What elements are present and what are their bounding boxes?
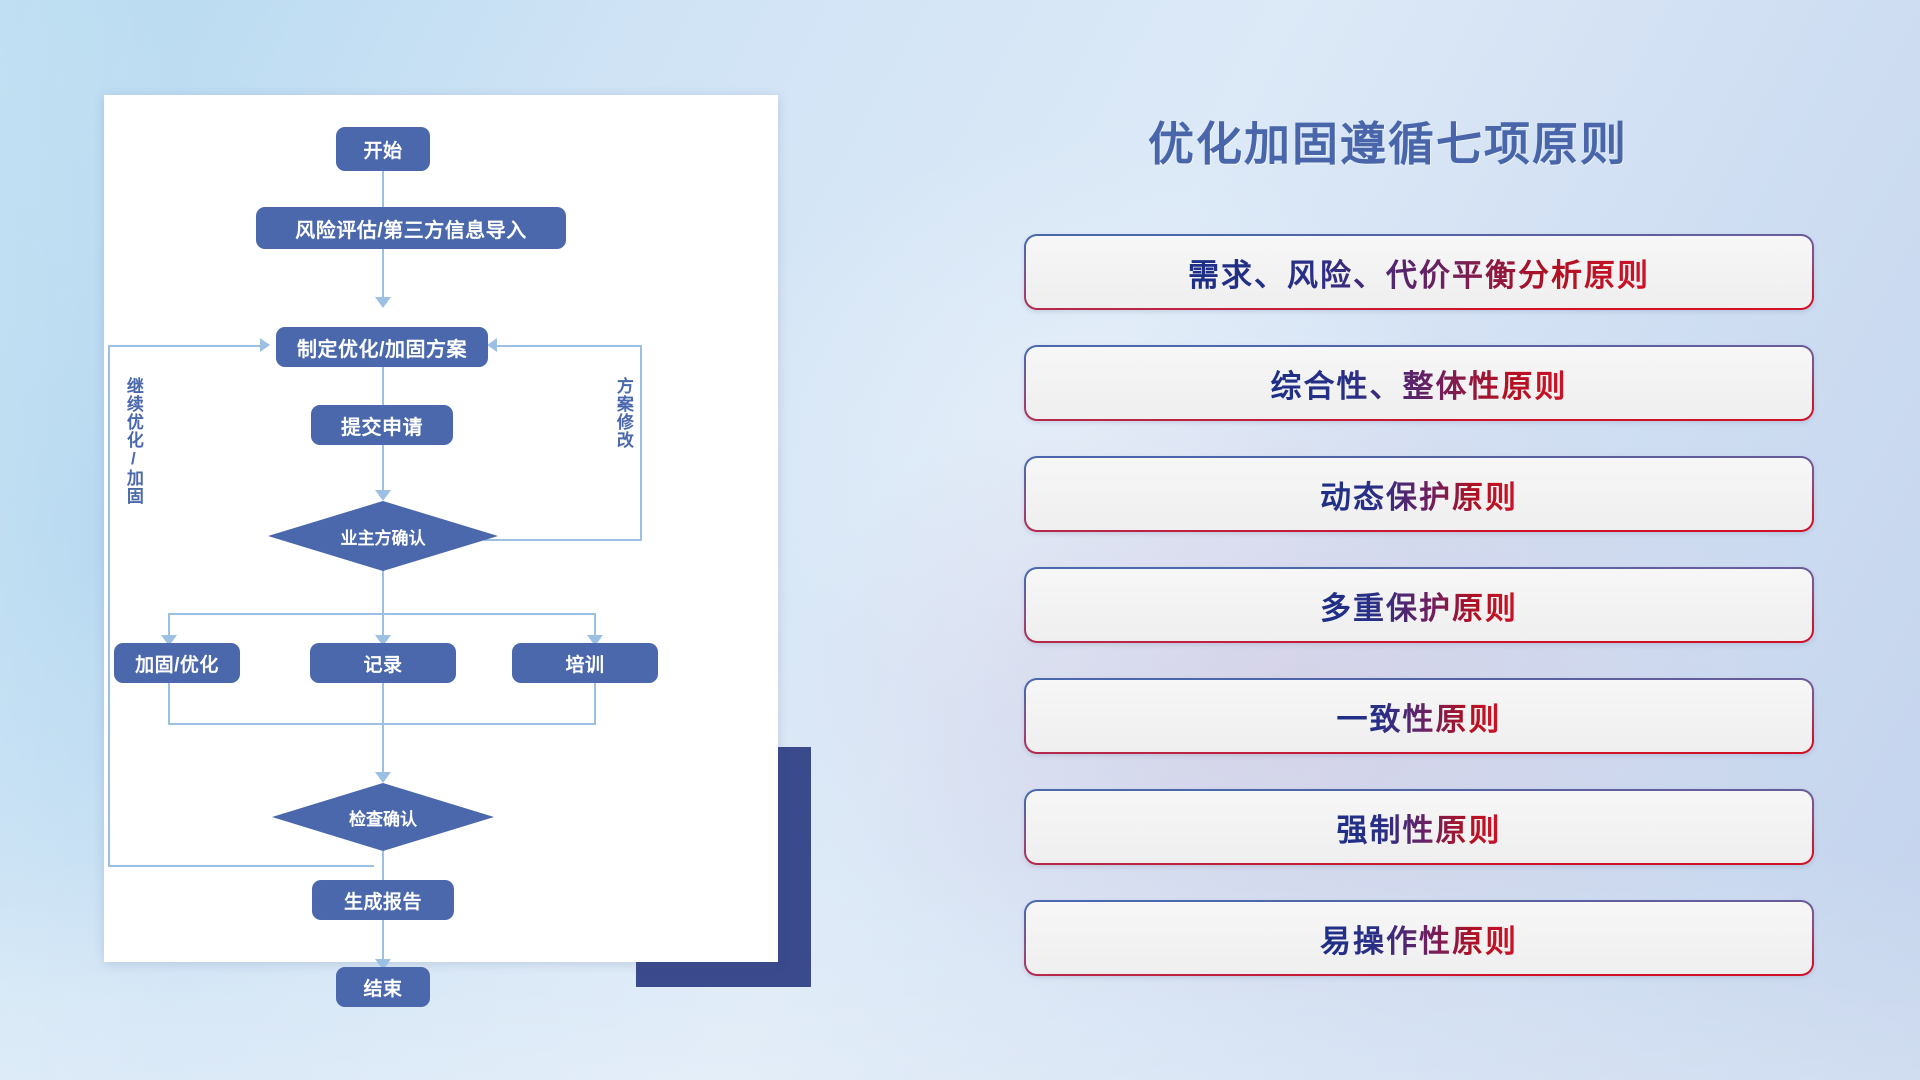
principle-card-6-label: 强制性原则 xyxy=(1337,805,1502,850)
principle-card-4[interactable]: 多重保护原则 xyxy=(1024,567,1814,643)
principle-card-3-inner: 动态保护原则 xyxy=(1026,458,1812,530)
flowchart-card: 开始 风险评估/第三方信息导入 制定优化/加固方案 提交申请 业主方确认 加固/… xyxy=(104,95,778,962)
principle-card-2-inner: 综合性、整体性原则 xyxy=(1026,347,1812,419)
flow-node-end[interactable]: 结束 xyxy=(336,967,430,1007)
principle-card-6-inner: 强制性原则 xyxy=(1026,791,1812,863)
flow-node-make-plan-label: 制定优化/加固方案 xyxy=(297,333,467,362)
flow-node-owner-confirm[interactable]: 业主方确认 xyxy=(268,501,498,571)
edge-reinforce-to-joinbus xyxy=(168,683,170,725)
flow-node-risk-assessment[interactable]: 风险评估/第三方信息导入 xyxy=(256,207,566,249)
loop-left-vertical-line xyxy=(108,345,110,867)
principle-card-4-label: 多重保护原则 xyxy=(1320,583,1518,628)
principle-card-3[interactable]: 动态保护原则 xyxy=(1024,456,1814,532)
edge-record-to-joinbus xyxy=(382,683,384,725)
flow-node-reinforce-optimize-label: 加固/优化 xyxy=(135,650,219,677)
edge-submit-to-owner xyxy=(382,445,384,495)
principle-card-1[interactable]: 需求、风险、代价平衡分析原则 xyxy=(1024,234,1814,310)
principle-card-7[interactable]: 易操作性原则 xyxy=(1024,900,1814,976)
arrow-joinbus-to-check xyxy=(375,772,391,783)
loop-label-continue-optimize: 继续优化/加固 xyxy=(124,377,142,505)
loop-left-top-line xyxy=(108,345,264,347)
arrow-risk-to-plan xyxy=(375,297,391,308)
edge-owner-to-bus xyxy=(382,569,384,615)
principle-card-5-inner: 一致性原则 xyxy=(1026,680,1812,752)
slide-canvas: 开始 风险评估/第三方信息导入 制定优化/加固方案 提交申请 业主方确认 加固/… xyxy=(0,0,1920,1080)
loop-left-arrowhead xyxy=(260,338,270,352)
flow-node-end-label: 结束 xyxy=(363,974,402,1001)
principle-card-4-inner: 多重保护原则 xyxy=(1026,569,1812,641)
flow-node-check-confirm[interactable]: 检查确认 xyxy=(272,783,494,851)
loop-label-plan-revision: 方案修改 xyxy=(614,377,632,449)
loop-left-bottom-line xyxy=(108,865,374,867)
principle-card-2[interactable]: 综合性、整体性原则 xyxy=(1024,345,1814,421)
flow-node-training[interactable]: 培训 xyxy=(512,643,658,683)
edge-joinbus-to-check xyxy=(382,723,384,777)
flow-node-training-label: 培训 xyxy=(565,650,604,677)
edge-training-to-joinbus xyxy=(594,683,596,725)
flow-node-reinforce-optimize[interactable]: 加固/优化 xyxy=(114,643,240,683)
principle-card-5-label: 一致性原则 xyxy=(1337,694,1502,739)
principle-card-7-label: 易操作性原则 xyxy=(1320,916,1518,961)
edge-report-to-end xyxy=(382,920,384,964)
flow-node-risk-assessment-label: 风险评估/第三方信息导入 xyxy=(295,214,527,243)
loop-right-vertical-line xyxy=(640,345,642,541)
flow-node-generate-report-label: 生成报告 xyxy=(344,887,422,914)
edge-risk-to-plan xyxy=(382,245,384,302)
principle-card-7-inner: 易操作性原则 xyxy=(1026,902,1812,974)
flow-node-check-confirm-label: 检查确认 xyxy=(349,805,417,830)
flow-node-owner-confirm-label: 业主方确认 xyxy=(341,524,426,549)
flow-node-record[interactable]: 记录 xyxy=(310,643,456,683)
arrow-submit-to-owner xyxy=(375,490,391,501)
loop-right-top-line xyxy=(497,345,642,347)
flow-node-submit-application-label: 提交申请 xyxy=(341,411,423,440)
principle-card-2-label: 综合性、整体性原则 xyxy=(1271,361,1568,406)
principle-card-1-inner: 需求、风险、代价平衡分析原则 xyxy=(1026,236,1812,308)
principle-card-3-label: 动态保护原则 xyxy=(1320,472,1518,517)
page-title: 优化加固遵循七项原则 xyxy=(1148,108,1628,174)
flow-node-generate-report[interactable]: 生成报告 xyxy=(312,880,454,920)
flow-node-submit-application[interactable]: 提交申请 xyxy=(311,405,453,445)
flow-node-make-plan[interactable]: 制定优化/加固方案 xyxy=(276,327,488,367)
principle-card-5[interactable]: 一致性原则 xyxy=(1024,678,1814,754)
loop-right-bottom-line xyxy=(484,539,642,541)
flow-node-start[interactable]: 开始 xyxy=(336,127,430,171)
principle-card-1-label: 需求、风险、代价平衡分析原则 xyxy=(1188,250,1650,295)
flow-node-record-label: 记录 xyxy=(363,650,402,677)
flowchart-diagram: 开始 风险评估/第三方信息导入 制定优化/加固方案 提交申请 业主方确认 加固/… xyxy=(104,95,778,962)
principles-card-list: 需求、风险、代价平衡分析原则 综合性、整体性原则 动态保护原则 多重保护原则 一… xyxy=(1024,234,1814,1011)
flow-node-start-label: 开始 xyxy=(363,136,402,163)
principle-card-6[interactable]: 强制性原则 xyxy=(1024,789,1814,865)
loop-right-arrowhead xyxy=(487,338,497,352)
